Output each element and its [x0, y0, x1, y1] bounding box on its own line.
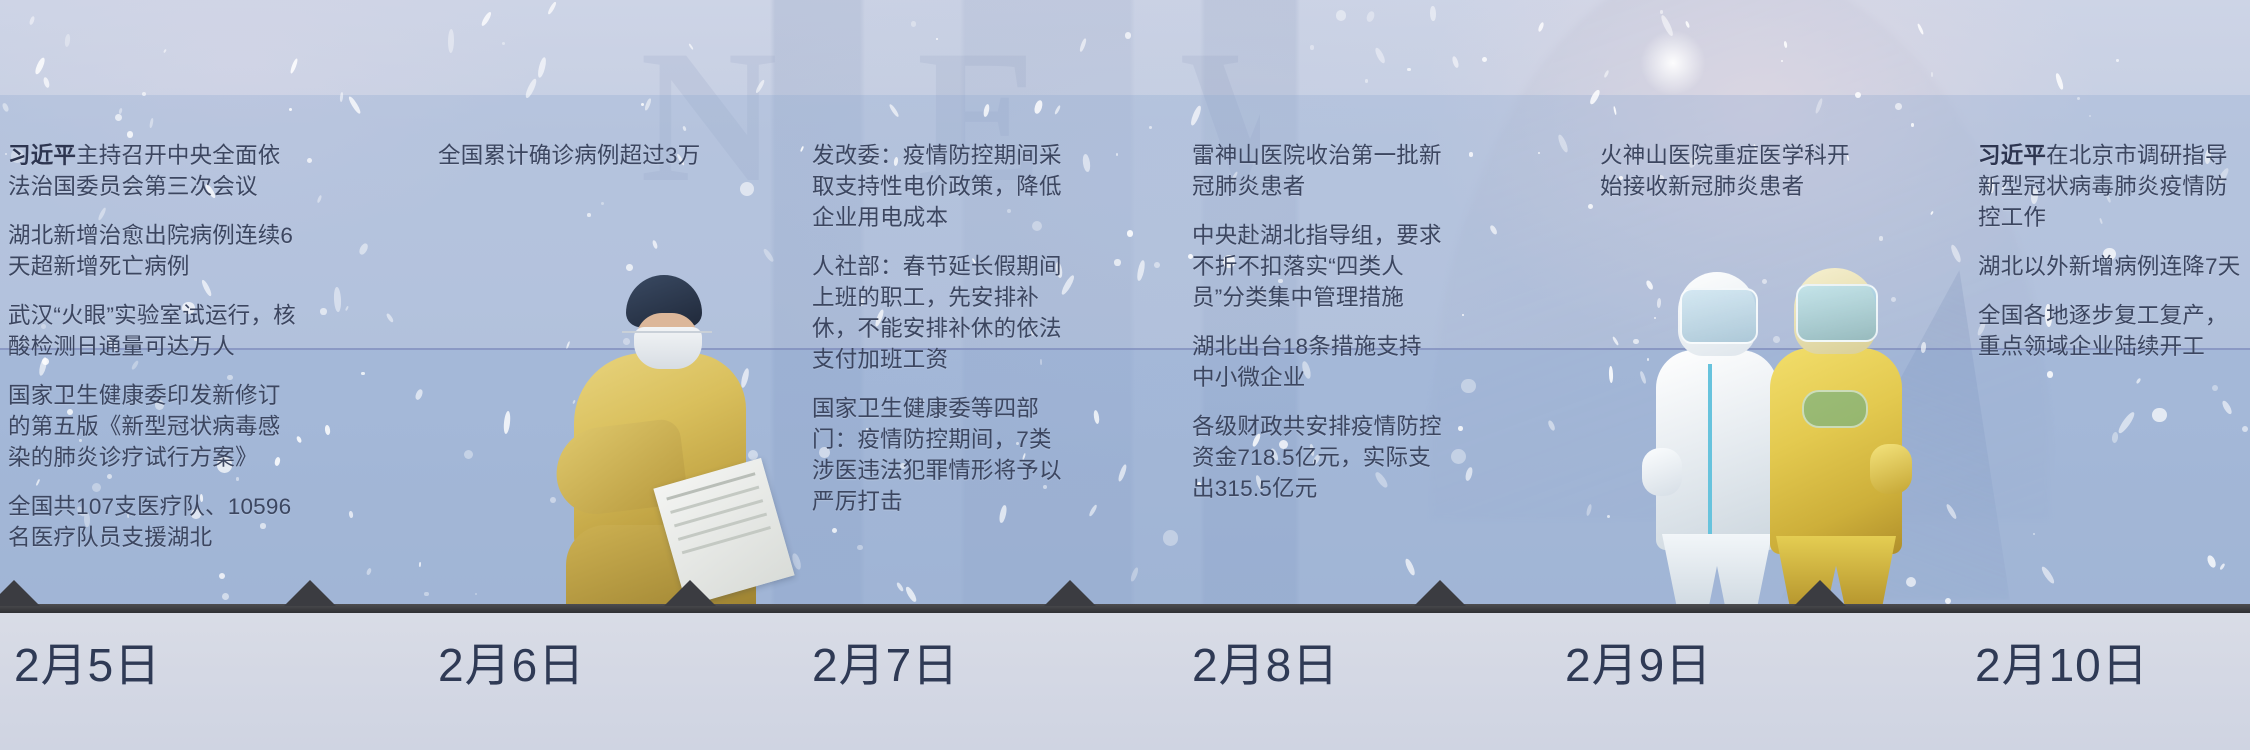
- event-text: 雷神山医院收治第一批新冠肺炎患者: [1192, 143, 1442, 199]
- timeline-tick-1: [0, 580, 40, 606]
- event-text: 中央赴湖北指导组，要求不折不扣落实“四类人员”分类集中管理措施: [1192, 223, 1442, 310]
- timeline-tick-2: [284, 580, 336, 606]
- event-item: 全国累计确诊病例超过3万: [438, 140, 728, 171]
- event-text: 发改委：疫情防控期间采取支持性电价政策，降低企业用电成本: [812, 143, 1062, 230]
- event-item: 火神山医院重症医学科开始接收新冠肺炎患者: [1600, 140, 1852, 202]
- event-text: 武汉“火眼”实验室试运行，核酸检测日通量可达万人: [8, 303, 296, 359]
- event-lead: 习近平: [1978, 143, 2046, 168]
- event-column-2月10日: 习近平在北京市调研指导新型冠状病毒肺炎疫情防控工作湖北以外新增病例连降7天全国各…: [1978, 140, 2250, 362]
- event-text: 全国累计确诊病例超过3万: [438, 143, 700, 168]
- event-item: 湖北以外新增病例连降7天: [1978, 251, 2250, 282]
- event-item: 全国各地逐步复工复产，重点领域企业陆续开工: [1978, 300, 2250, 362]
- event-item: 发改委：疫情防控期间采取支持性电价政策，降低企业用电成本: [812, 140, 1064, 233]
- event-column-2月9日: 火神山医院重症医学科开始接收新冠肺炎患者: [1600, 140, 1852, 202]
- event-column-2月5日: 习近平主持召开中央全面依法治国委员会第三次会议湖北新增治愈出院病例连续6天超新增…: [8, 140, 298, 553]
- event-lead: 习近平: [8, 143, 76, 168]
- event-item: 国家卫生健康委等四部门：疫情防控期间，7类涉医违法犯罪情形将予以严厉打击: [812, 393, 1064, 517]
- event-column-2月8日: 雷神山医院收治第一批新冠肺炎患者中央赴湖北指导组，要求不折不扣落实“四类人员”分…: [1192, 140, 1444, 504]
- event-text: 各级财政共安排疫情防控资金718.5亿元，实际支出315.5亿元: [1192, 414, 1442, 501]
- event-text: 国家卫生健康委印发新修订的第五版《新型冠状病毒感染的肺炎诊疗试行方案》: [8, 383, 280, 470]
- event-item: 全国共107支医疗队、10596名医疗队员支援湖北: [8, 491, 298, 553]
- event-text: 全国各地逐步复工复产，重点领域企业陆续开工: [1978, 303, 2228, 359]
- event-text: 人社部：春节延长假期间上班的职工，先安排补休，不能安排补休的依法支付加班工资: [812, 254, 1062, 372]
- date-label-2月7日[interactable]: 2月7日: [812, 636, 959, 694]
- event-item: 人社部：春节延长假期间上班的职工，先安排补休，不能安排补休的依法支付加班工资: [812, 251, 1064, 375]
- infographic-canvas: N E W 习近平主持召开中央全面依法治国委员会第三次会议湖北新增治愈出院病例连…: [0, 0, 2250, 750]
- timeline-tick-5: [1414, 580, 1466, 606]
- timeline-footer-strip: [0, 613, 2250, 750]
- timeline-tick-4: [1044, 580, 1096, 606]
- event-text: 全国共107支医疗队、10596名医疗队员支援湖北: [8, 494, 291, 550]
- event-item: 习近平主持召开中央全面依法治国委员会第三次会议: [8, 140, 298, 202]
- event-column-2月6日: 全国累计确诊病例超过3万: [438, 140, 728, 171]
- date-label-2月8日[interactable]: 2月8日: [1192, 636, 1339, 694]
- event-item: 湖北出台18条措施支持中小微企业: [1192, 331, 1444, 393]
- date-label-2月10日[interactable]: 2月10日: [1975, 636, 2149, 694]
- date-label-2月6日[interactable]: 2月6日: [438, 636, 585, 694]
- date-label-2月9日[interactable]: 2月9日: [1565, 636, 1712, 694]
- timeline-tick-6: [1794, 580, 1846, 606]
- event-item: 各级财政共安排疫情防控资金718.5亿元，实际支出315.5亿元: [1192, 411, 1444, 504]
- event-text: 湖北出台18条措施支持中小微企业: [1192, 334, 1422, 390]
- event-columns: 习近平主持召开中央全面依法治国委员会第三次会议湖北新增治愈出院病例连续6天超新增…: [0, 0, 2250, 610]
- event-text: 国家卫生健康委等四部门：疫情防控期间，7类涉医违法犯罪情形将予以严厉打击: [812, 396, 1062, 514]
- timeline-axis: [0, 604, 2250, 613]
- event-item: 国家卫生健康委印发新修订的第五版《新型冠状病毒感染的肺炎诊疗试行方案》: [8, 380, 298, 473]
- event-item: 武汉“火眼”实验室试运行，核酸检测日通量可达万人: [8, 300, 298, 362]
- event-item: 雷神山医院收治第一批新冠肺炎患者: [1192, 140, 1444, 202]
- event-text: 火神山医院重症医学科开始接收新冠肺炎患者: [1600, 143, 1850, 199]
- date-label-2月5日[interactable]: 2月5日: [14, 636, 161, 694]
- event-item: 中央赴湖北指导组，要求不折不扣落实“四类人员”分类集中管理措施: [1192, 220, 1444, 313]
- event-column-2月7日: 发改委：疫情防控期间采取支持性电价政策，降低企业用电成本人社部：春节延长假期间上…: [812, 140, 1064, 517]
- event-text: 湖北新增治愈出院病例连续6天超新增死亡病例: [8, 223, 293, 279]
- event-item: 湖北新增治愈出院病例连续6天超新增死亡病例: [8, 220, 298, 282]
- event-item: 习近平在北京市调研指导新型冠状病毒肺炎疫情防控工作: [1978, 140, 2250, 233]
- timeline-tick-3: [664, 580, 716, 606]
- event-text: 湖北以外新增病例连降7天: [1978, 254, 2240, 279]
